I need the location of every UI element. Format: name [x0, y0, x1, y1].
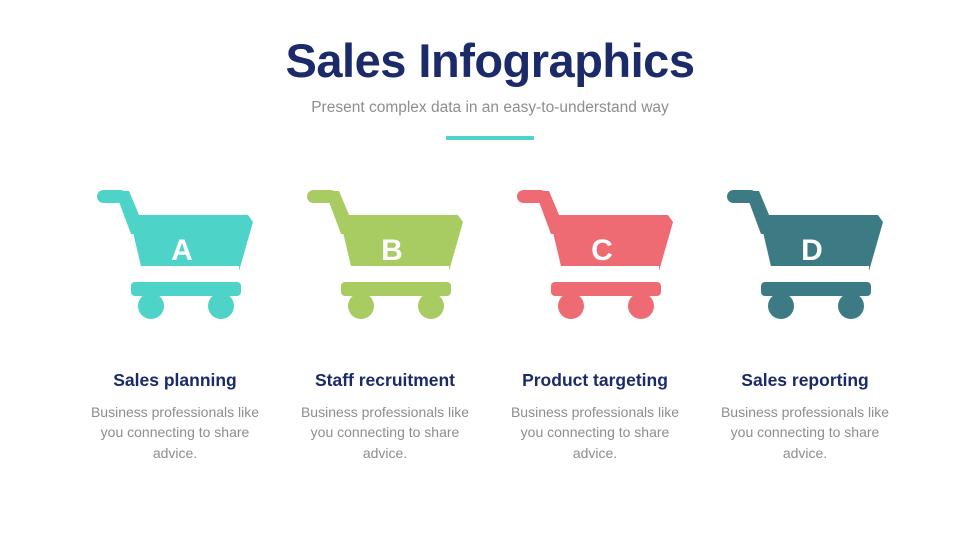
cart-icon-wrapper[interactable]: D: [715, 182, 895, 322]
card-title: Product targeting: [522, 370, 668, 391]
cart-icon-wrapper[interactable]: A: [85, 182, 265, 322]
card-title: Sales planning: [113, 370, 237, 391]
cart-icon-wrapper[interactable]: C: [505, 182, 685, 322]
cart-letter: B: [381, 234, 403, 267]
card-item[interactable]: C Product targeting Business professiona…: [490, 182, 700, 463]
cart-wheel-left: [558, 293, 584, 319]
cart-stripe: [763, 266, 869, 282]
card-title: Sales reporting: [741, 370, 868, 391]
card-item[interactable]: B Staff recruitment Business professiona…: [280, 182, 490, 463]
card-description: Business professionals like you connecti…: [85, 402, 265, 463]
cart-wheel-right: [838, 293, 864, 319]
card-item[interactable]: A Sales planning Business professionals …: [70, 182, 280, 463]
cart-letter: C: [591, 234, 613, 267]
card-description: Business professionals like you connecti…: [505, 402, 685, 463]
cart-wheel-right: [418, 293, 444, 319]
shopping-cart-icon: C: [505, 182, 685, 322]
card-item[interactable]: D Sales reporting Business professionals…: [700, 182, 910, 463]
shopping-cart-icon: A: [85, 182, 265, 322]
cart-letter: D: [801, 234, 823, 267]
page-subtitle: Present complex data in an easy-to-under…: [0, 99, 980, 118]
cart-stripe: [133, 266, 239, 282]
card-title: Staff recruitment: [315, 370, 455, 391]
cart-body-group-2: B: [307, 190, 463, 319]
shopping-cart-icon: B: [295, 182, 475, 322]
card-row: A Sales planning Business professionals …: [0, 182, 980, 463]
cart-wheel-left: [348, 293, 374, 319]
cart-body-group-1: A: [97, 190, 253, 319]
page-title: Sales Infographics: [0, 36, 980, 85]
cart-stripe: [343, 266, 449, 282]
card-description: Business professionals like you connecti…: [715, 402, 895, 463]
cart-letter: A: [171, 234, 193, 267]
cart-wheel-right: [628, 293, 654, 319]
cart-stripe: [553, 266, 659, 282]
cart-body-group-3: C: [517, 190, 673, 319]
cart-wheel-left: [138, 293, 164, 319]
slide-header: Sales Infographics Present complex data …: [0, 0, 980, 140]
title-divider: [446, 136, 534, 140]
card-description: Business professionals like you connecti…: [295, 402, 475, 463]
infographic-slide: Sales Infographics Present complex data …: [0, 0, 980, 551]
cart-wheel-right: [208, 293, 234, 319]
cart-icon-wrapper[interactable]: B: [295, 182, 475, 322]
shopping-cart-icon: D: [715, 182, 895, 322]
cart-wheel-left: [768, 293, 794, 319]
cart-body-group-4: D: [727, 190, 883, 319]
